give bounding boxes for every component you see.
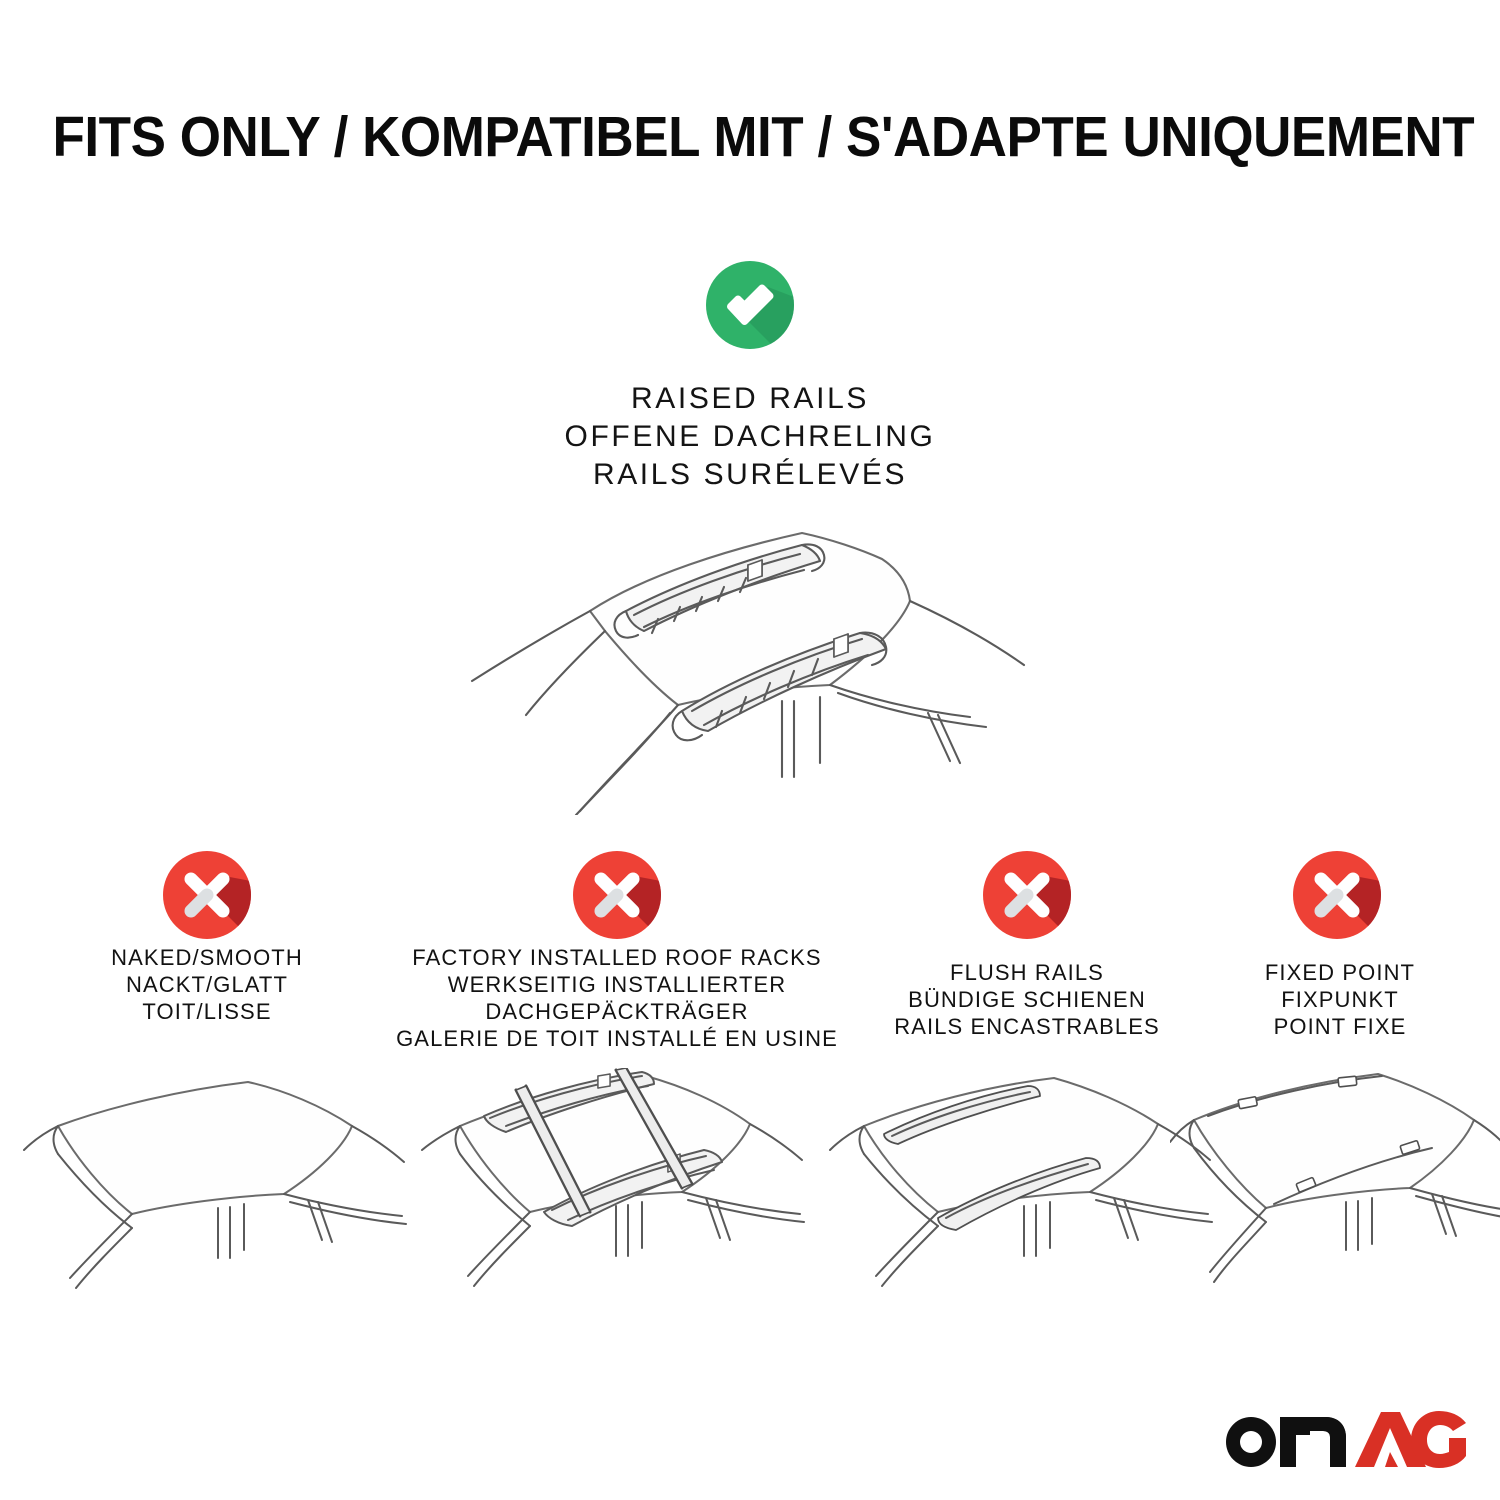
label-line: BÜNDIGE SCHIENEN <box>862 986 1192 1013</box>
label-line: POINT FIXE <box>1215 1013 1465 1040</box>
label-line: FIXED POINT <box>1215 959 1465 986</box>
fitment-infographic: FITS ONLY / KOMPATIBEL MIT / S'ADAPTE UN… <box>0 0 1500 1500</box>
green-check-circle-icon <box>706 261 794 349</box>
compatible-line-de: OFFENE DACHRELING <box>0 418 1500 456</box>
logo-letter-c <box>1411 1411 1466 1468</box>
incompatible-label-flush-rails: FLUSH RAILS BÜNDIGE SCHIENEN RAILS ENCAS… <box>862 959 1192 1040</box>
red-cross-circle-icon-naked-smooth <box>163 851 251 939</box>
car-roof-with-raised-rails-illustration <box>430 515 1070 815</box>
car-roof-fixed-point-illustration <box>1170 1068 1500 1298</box>
label-line: FIXPUNKT <box>1215 986 1465 1013</box>
car-roof-factory-racks-illustration <box>420 1068 810 1298</box>
label-line: NACKT/GLATT <box>37 971 377 998</box>
red-cross-circle-icon-flush-rails <box>983 851 1071 939</box>
incompatible-label-factory-racks: FACTORY INSTALLED ROOF RACKS WERKSEITIG … <box>392 944 842 1052</box>
red-cross-circle-icon-factory-racks <box>573 851 661 939</box>
compatible-label: RAISED RAILS OFFENE DACHRELING RAILS SUR… <box>0 380 1500 494</box>
red-cross-circle-icon-fixed-point <box>1293 851 1381 939</box>
logo-letter-m <box>1280 1417 1346 1467</box>
label-line: GALERIE DE TOIT INSTALLÉ EN USINE <box>392 1025 842 1052</box>
label-line: RAILS ENCASTRABLES <box>862 1013 1192 1040</box>
compatible-line-en: RAISED RAILS <box>0 380 1500 418</box>
compatible-line-fr: RAILS SURÉLEVÉS <box>0 456 1500 494</box>
label-line: DACHGEPÄCKTRÄGER <box>392 998 842 1025</box>
incompatible-label-fixed-point: FIXED POINT FIXPUNKT POINT FIXE <box>1215 959 1465 1040</box>
omac-logo <box>1218 1406 1468 1470</box>
label-line: TOIT/LISSE <box>37 998 377 1025</box>
label-line: WERKSEITIG INSTALLIERTER <box>392 971 842 998</box>
incompatible-label-naked-smooth: NAKED/SMOOTH NACKT/GLATT TOIT/LISSE <box>37 944 377 1025</box>
label-line: FLUSH RAILS <box>862 959 1192 986</box>
logo-letter-o <box>1226 1417 1276 1467</box>
label-line: FACTORY INSTALLED ROOF RACKS <box>392 944 842 971</box>
label-line: NAKED/SMOOTH <box>37 944 377 971</box>
page-title: FITS ONLY / KOMPATIBEL MIT / S'ADAPTE UN… <box>53 104 1448 170</box>
car-roof-naked-smooth-illustration <box>22 1068 412 1298</box>
car-roof-flush-rails-illustration <box>828 1068 1218 1298</box>
